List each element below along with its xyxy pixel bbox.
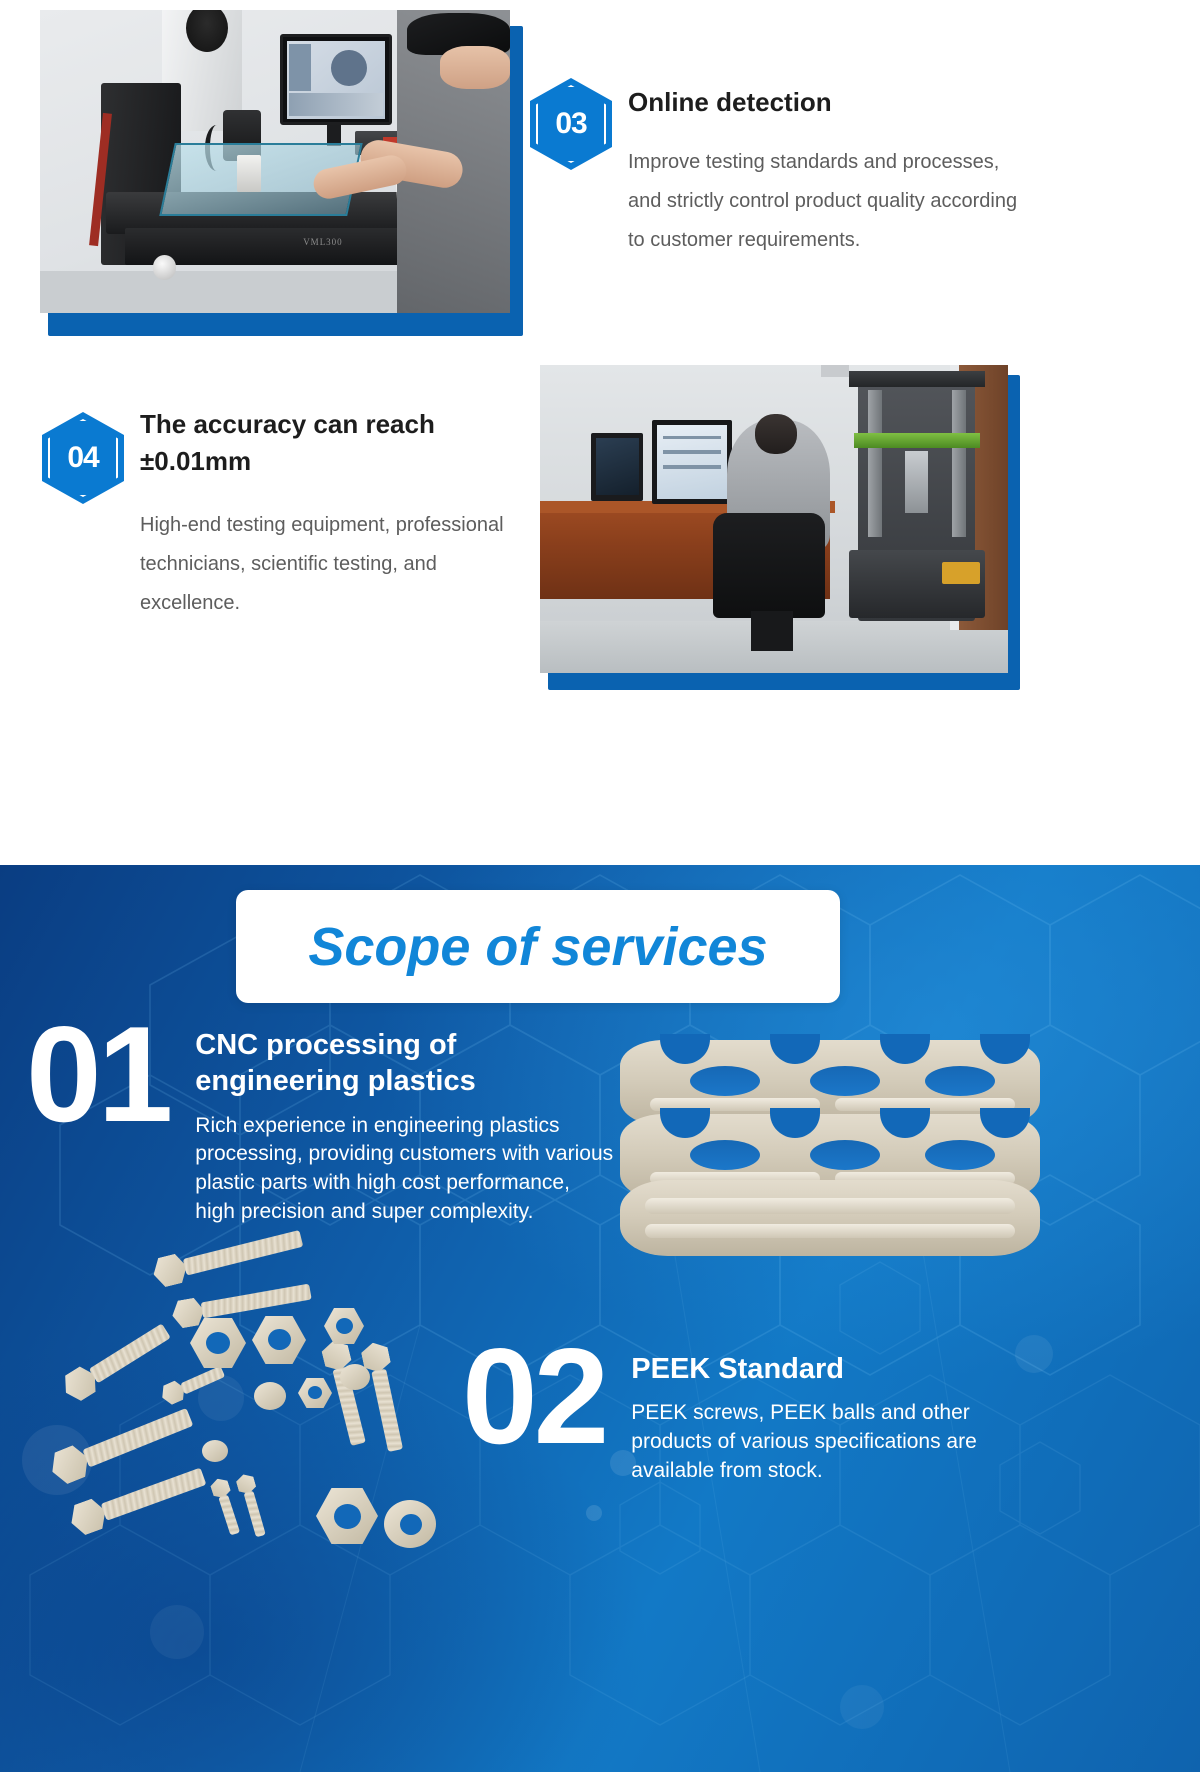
service-body: PEEK screws, PEEK balls and other produc… (631, 1399, 1011, 1485)
online-detection-photo-frame: VML300 (40, 10, 515, 325)
service-number: 01 (26, 1009, 169, 1140)
hexagon-icon: 03 (530, 78, 612, 170)
service-cnc-processing: 01 CNC processing of engineering plastic… (26, 1009, 615, 1227)
feature-body: Improve testing standards and processes,… (628, 143, 1028, 260)
feature-number-badge-04: 04 (42, 412, 124, 504)
feature-title: The accuracy can reach ±0.01mm (140, 400, 500, 480)
service-body: Rich experience in engineering plastics … (195, 1112, 615, 1227)
online-detection-photo: VML300 (40, 10, 510, 313)
feature-number: 04 (42, 412, 124, 504)
scope-title: Scope of services (308, 916, 767, 978)
marketing-page: VML300 03 Online detect (0, 0, 1200, 1772)
service-title: CNC processing of engineering plastics (195, 1027, 615, 1100)
peek-bracket-product-image (620, 1040, 1050, 1280)
service-number: 02 (462, 1331, 605, 1462)
scope-title-card: Scope of services (236, 890, 840, 1003)
feature-number: 03 (530, 78, 612, 170)
hexagon-icon: 04 (42, 412, 124, 504)
feature-title: Online detection (628, 70, 1008, 121)
measuring-machine-scene: VML300 (40, 10, 510, 313)
tensile-testing-photo (540, 365, 1008, 673)
service-peek-standard: 02 PEEK Standard PEEK screws, PEEK balls… (462, 1331, 1011, 1486)
tensile-testing-photo-frame (540, 365, 1020, 690)
feature-body: High-end testing equipment, professional… (140, 506, 540, 623)
capabilities-section: VML300 03 Online detect (0, 0, 1200, 865)
service-title: PEEK Standard (631, 1351, 1011, 1387)
peek-screws-product-image (40, 1260, 460, 1560)
tensile-tester-scene (540, 365, 1008, 673)
feature-number-badge-03: 03 (530, 78, 612, 170)
feature-online-detection: 03 Online detection Improve testing stan… (628, 70, 1028, 260)
machine-model-label: VML300 (303, 237, 343, 247)
scope-of-services-section: Scope of services (0, 865, 1200, 1772)
feature-accuracy: 04 The accuracy can reach ±0.01mm High-e… (140, 400, 540, 623)
